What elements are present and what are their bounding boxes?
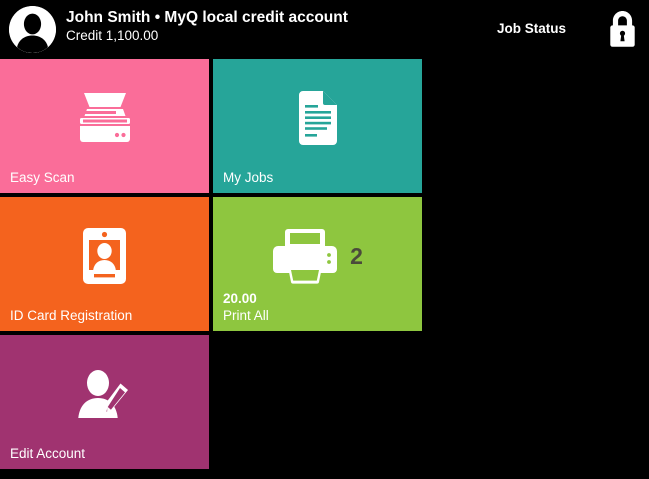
id-card-icon [0, 221, 209, 291]
tile-edit-account[interactable]: Edit Account [0, 335, 209, 469]
tile-price: 20.00 [223, 290, 257, 307]
tile-id-card-registration[interactable]: ID Card Registration [0, 197, 209, 331]
tile-label: Edit Account [10, 445, 85, 462]
job-status-button[interactable]: Job Status [497, 21, 566, 36]
credit-balance: Credit 1,100.00 [66, 27, 348, 45]
app-header: John Smith • MyQ local credit account Cr… [0, 0, 649, 59]
tile-label: Print All [223, 307, 269, 324]
tile-label: My Jobs [223, 169, 273, 186]
tile-easy-scan[interactable]: Easy Scan [0, 59, 209, 193]
scanner-icon [0, 83, 209, 153]
printer-icon-group: 2 [213, 221, 422, 291]
lock-icon[interactable] [606, 9, 639, 49]
printer-icon [272, 227, 338, 285]
user-edit-icon [0, 359, 209, 429]
avatar[interactable] [9, 6, 56, 53]
tile-my-jobs[interactable]: My Jobs [213, 59, 422, 193]
page-title: John Smith • MyQ local credit account [66, 8, 348, 27]
tile-grid: Easy Scan My Jobs [0, 59, 425, 471]
tile-label: Easy Scan [10, 169, 75, 186]
document-icon [213, 83, 422, 153]
job-count-badge: 2 [350, 245, 363, 268]
tile-print-all[interactable]: 2 20.00 Print All [213, 197, 422, 331]
tile-label: ID Card Registration [10, 307, 132, 324]
user-info: John Smith • MyQ local credit account Cr… [66, 8, 348, 45]
